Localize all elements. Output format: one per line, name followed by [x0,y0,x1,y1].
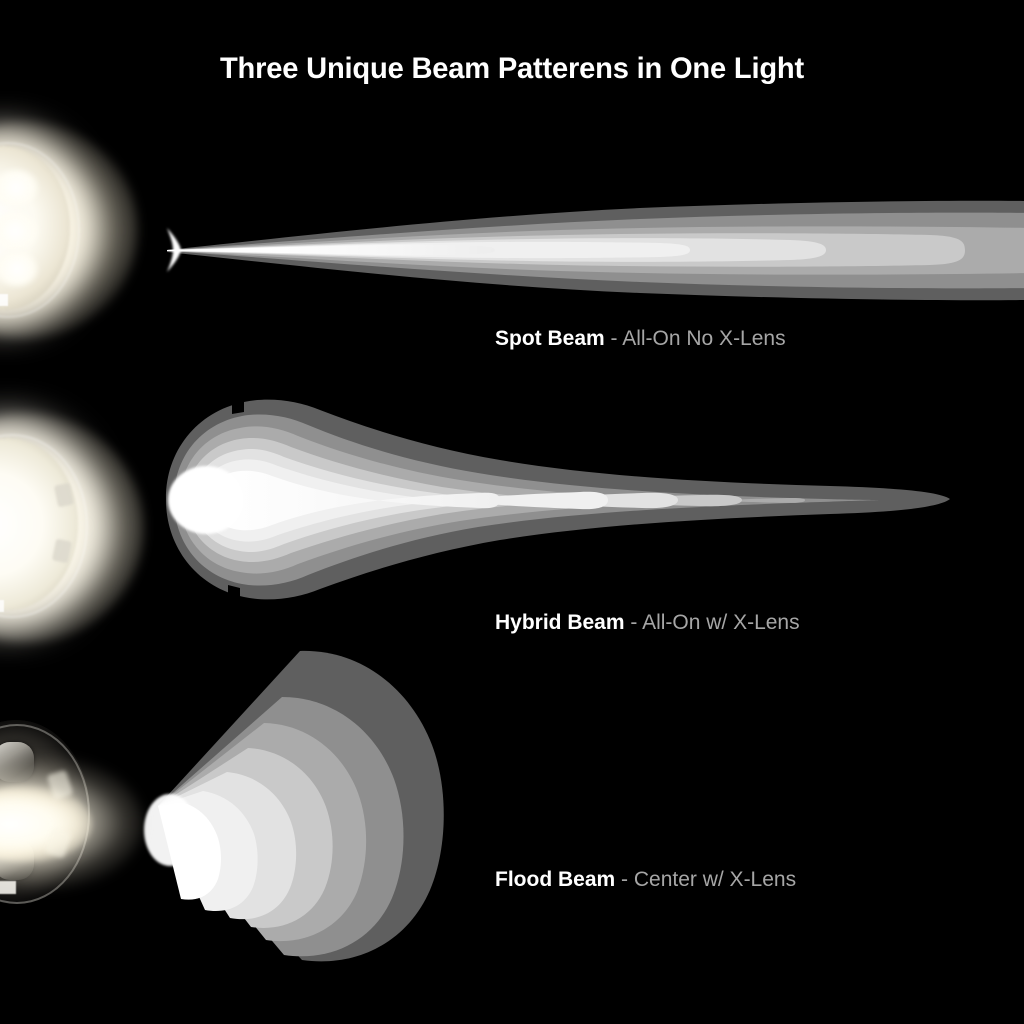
hybrid-beam-layer-5 [174,414,880,585]
lamp-spot-body [0,146,70,310]
beam-label-flood-separator: - [615,868,634,891]
lamp-spot-rim [0,142,80,318]
spot-beam-layer-2 [167,238,826,262]
lamp-flood-center-leds [0,786,92,862]
lamp-led-optic-icon [0,742,34,782]
lamp-flood-rim [0,724,90,904]
hybrid-beam-notch-bottom [228,585,240,598]
lamp-led-icon [0,212,38,250]
lamp-hybrid-icon [0,430,118,626]
beam-label-spot-separator: - [605,327,623,350]
hybrid-beam-hotspot [168,466,244,534]
beam-label-hybrid: Hybrid Beam - All-On w/ X-Lens [495,612,800,633]
lamp-brand-badge [0,600,4,612]
flood-beam-layer-5 [158,697,404,956]
hybrid-beam-layer-4 [180,426,805,573]
spot-beam-layer-1 [167,242,690,258]
hybrid-beam-layer-outer [166,400,950,600]
lamp-led-icon [0,252,38,286]
spot-beam-graphic [167,201,1024,300]
lamp-led-icon [0,170,38,206]
lamp-spot-halo [0,122,138,338]
beam-label-flood-description: Center w/ X-Lens [634,868,796,891]
hybrid-beam-notch-top [232,401,244,414]
flood-beam-layer-2 [158,772,296,919]
lamp-hybrid-body [0,438,78,610]
lamp-flood-icon [0,712,132,912]
lamp-flood-halo [0,758,142,888]
beam-label-flood: Flood Beam - Center w/ X-Lens [495,869,796,890]
flood-beam-graphic [144,651,444,961]
lamp-led-optic-icon [0,840,34,880]
beam-label-hybrid-description: All-On w/ X-Lens [642,611,800,634]
lamp-spot-icon [0,140,114,320]
flood-beam-hotspot [144,794,196,866]
beam-label-spot: Spot Beam - All-On No X-Lens [495,328,786,349]
lamp-flood-housing [0,720,90,904]
hybrid-beam-graphic [166,400,950,600]
flood-beam-layer-4 [158,723,366,941]
lamp-hybrid-halo [0,414,144,642]
spot-beam-tip [167,228,181,272]
beam-label-hybrid-name: Hybrid Beam [495,611,625,634]
hybrid-beam-core [206,471,500,531]
flood-beam-layer-outer [158,651,444,961]
spot-beam-layer-3 [167,233,965,267]
x-lens-flare-icon [46,770,73,801]
flood-beam-layer-1 [158,791,258,911]
lamp-brand-badge [0,294,8,306]
poster-canvas: Three Unique Beam Patterens in One Light [0,0,1024,1024]
hybrid-beam-layer-3 [186,438,742,562]
page-title: Three Unique Beam Patterens in One Light [15,52,1008,86]
beam-label-hybrid-separator: - [625,611,643,634]
hybrid-beam-layer-1 [198,459,608,541]
beam-label-spot-description: All-On No X-Lens [622,327,785,350]
x-lens-tab-icon [54,483,74,508]
beam-label-spot-name: Spot Beam [495,327,605,350]
lamp-hybrid-rim [0,434,88,618]
hybrid-beam-layer-2 [192,449,678,552]
spot-beam-layer-5 [167,213,1024,289]
spot-beam-layer-outer [167,201,1024,300]
spot-beam-layer-4 [167,226,1024,274]
flood-beam-core [158,802,221,900]
x-lens-flare-icon [44,828,71,859]
lamp-brand-badge [0,881,16,894]
flood-beam-layer-3 [158,748,333,928]
x-lens-tab-icon [52,539,72,564]
spot-beam-core [167,245,495,256]
beam-label-flood-name: Flood Beam [495,868,615,891]
